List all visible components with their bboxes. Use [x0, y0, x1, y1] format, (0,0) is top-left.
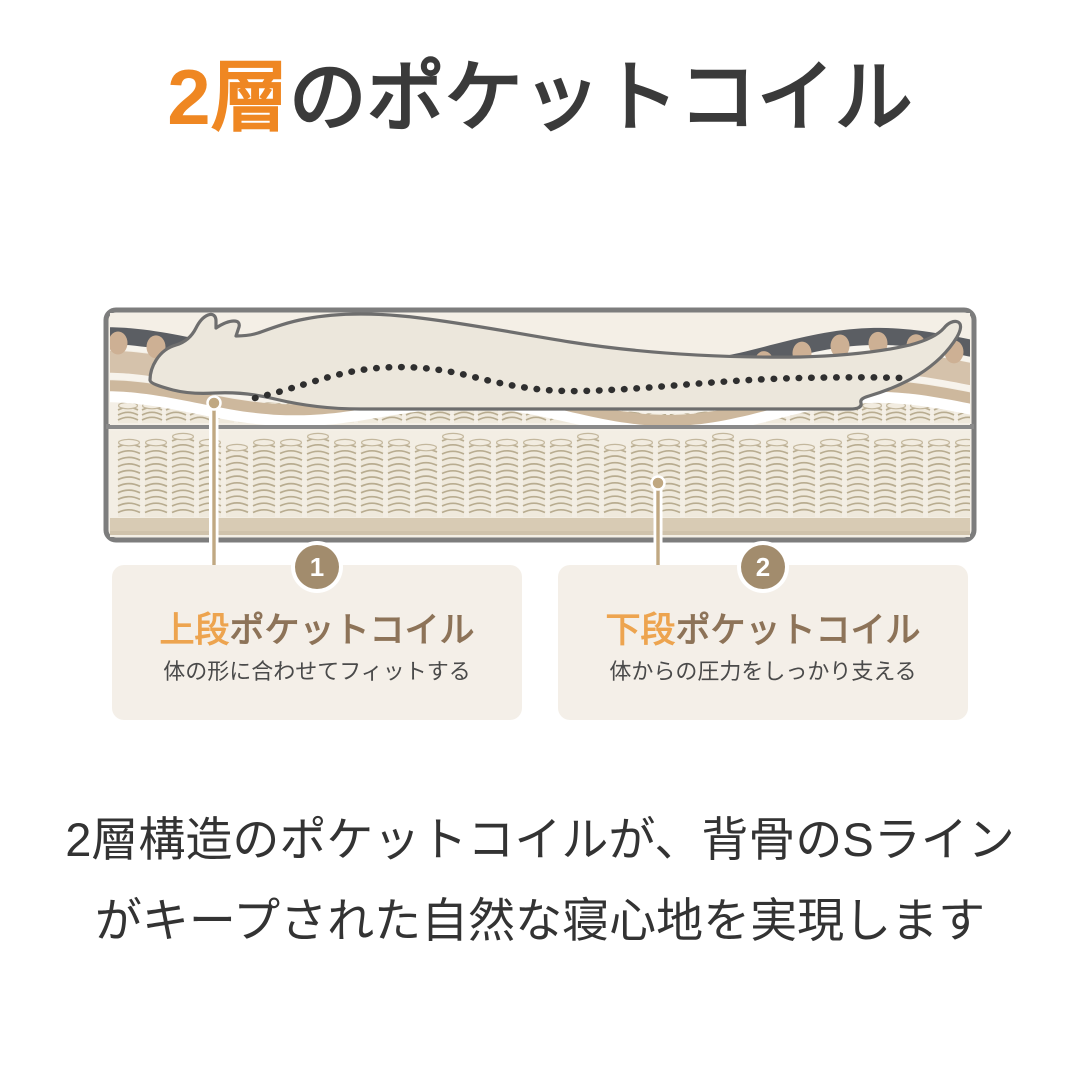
pocket-coil — [280, 439, 302, 517]
caption-line-1: 2層構造のポケットコイルが、背骨のSライン — [0, 800, 1080, 881]
pocket-coil — [766, 439, 788, 517]
pocket-coil — [577, 433, 599, 517]
pocket-coil — [928, 439, 950, 517]
pocket-coil — [442, 433, 464, 517]
caption-line-2: がキープされた自然な寝心地を実現します — [0, 881, 1080, 962]
card-heading-accent-1: 上段 — [159, 611, 229, 650]
card-lower-pocket-coil[interactable]: 2 下段ポケットコイル 体からの圧力をしっかり支える — [558, 565, 968, 720]
badge-2: 2 — [741, 545, 785, 589]
pocket-coil — [631, 439, 653, 517]
pocket-coil — [172, 433, 194, 517]
pocket-coil — [334, 439, 356, 517]
card-heading-rest-1: ポケットコイル — [230, 611, 475, 650]
pocket-coil — [496, 439, 518, 517]
lower-coil-layer — [106, 428, 977, 540]
pocket-coil — [793, 444, 815, 517]
pocket-coil — [469, 439, 491, 517]
card-sub-2: 体からの圧力をしっかり支える — [558, 659, 968, 685]
mattress-diagram — [0, 200, 1080, 580]
pocket-coil — [739, 439, 761, 517]
pocket-coil — [253, 439, 275, 517]
pocket-coil — [604, 444, 626, 517]
card-heading-rest-2: ポケットコイル — [676, 611, 921, 650]
pocket-coil — [388, 439, 410, 517]
card-sub-1: 体の形に合わせてフィットする — [112, 659, 522, 685]
card-heading-accent-2: 下段 — [605, 611, 675, 650]
pocket-coil — [847, 433, 869, 517]
pocket-coil — [820, 439, 842, 517]
mattress-cross-section-svg — [0, 200, 1080, 580]
pressure-dot — [109, 331, 128, 354]
card-heading-2: 下段ポケットコイル — [558, 611, 968, 650]
callout-cards: 1 上段ポケットコイル 体の形に合わせてフィットする 2 下段ポケットコイル 体… — [112, 565, 968, 720]
pocket-coil — [712, 433, 734, 517]
page-title-accent: 2層 — [167, 53, 288, 141]
pocket-coil — [307, 433, 329, 517]
pocket-coil — [523, 439, 545, 517]
caption: 2層構造のポケットコイルが、背骨のSライン がキープされた自然な寝心地を実現しま… — [0, 800, 1080, 962]
pocket-coil — [550, 439, 572, 517]
pocket-coil — [415, 444, 437, 517]
pocket-coil — [901, 439, 923, 517]
card-upper-pocket-coil[interactable]: 1 上段ポケットコイル 体の形に合わせてフィットする — [112, 565, 522, 720]
pocket-coil — [226, 444, 248, 517]
card-heading-1: 上段ポケットコイル — [112, 611, 522, 650]
pocket-coil — [145, 439, 167, 517]
pocket-coil — [118, 439, 140, 517]
pocket-coil — [874, 439, 896, 517]
page-title-rest: のポケットコイル — [289, 53, 913, 141]
pocket-coil — [361, 439, 383, 517]
pocket-coil — [862, 402, 882, 423]
page-title: 2層のポケットコイル — [0, 58, 1080, 136]
pocket-coil — [685, 439, 707, 517]
badge-1: 1 — [295, 545, 339, 589]
pocket-coil — [886, 402, 906, 423]
pocket-coil — [118, 402, 138, 423]
